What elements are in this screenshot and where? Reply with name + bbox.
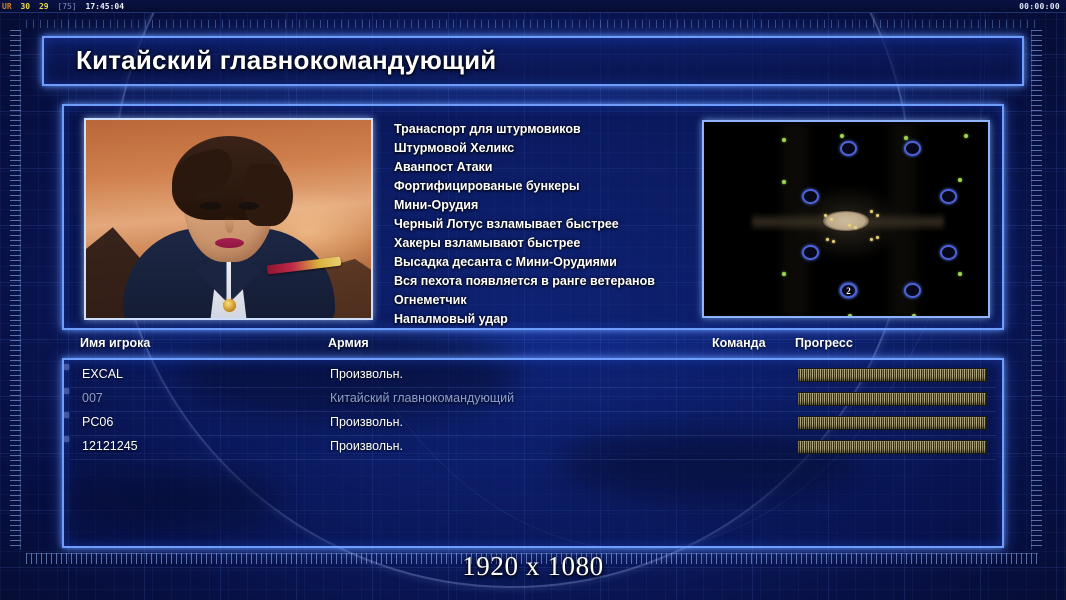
status-right-clock: 00:00:00 xyxy=(1019,0,1060,13)
map-spawn-marker[interactable] xyxy=(904,283,921,298)
ability-item: Штурмовой Хеликс xyxy=(394,139,694,158)
player-row[interactable]: EXCALПроизвольн. xyxy=(64,364,1002,388)
map-resource-dot xyxy=(958,272,962,276)
portrait-eye-right xyxy=(238,202,259,210)
map-resource-dot xyxy=(782,138,786,142)
player-name: 12121245 xyxy=(82,439,138,453)
player-name: EXCAL xyxy=(82,367,123,381)
player-army: Произвольн. xyxy=(330,415,403,429)
player-name: PC06 xyxy=(82,415,113,429)
map-spawn-marker[interactable] xyxy=(904,141,921,156)
ruler-left xyxy=(10,30,21,550)
player-row[interactable]: PC06Произвольн. xyxy=(64,412,1002,436)
map-supply-dot xyxy=(830,218,833,221)
top-status-bar: UR 30 29 [75] 17:45:04 00:00:00 xyxy=(0,0,1066,13)
ability-item: Напалмовый удар xyxy=(394,310,694,329)
map-supply-dot xyxy=(876,214,879,217)
map-resource-dot xyxy=(964,134,968,138)
ability-item: Мини-Орудия xyxy=(394,196,694,215)
resolution-label: 1920 x 1080 xyxy=(0,551,1066,582)
player-army: Китайский главнокомандующий xyxy=(330,391,514,405)
player-team-marker[interactable] xyxy=(64,388,69,394)
portrait-lips xyxy=(215,238,244,248)
map-spawn-marker[interactable] xyxy=(840,141,857,156)
ability-list: Транаспорт для штурмовиковШтурмовой Хели… xyxy=(394,120,694,329)
player-row[interactable]: 12121245Произвольн. xyxy=(64,436,1002,460)
ruler-top xyxy=(26,20,1038,28)
player-army: Произвольн. xyxy=(330,367,403,381)
ruler-right xyxy=(1031,30,1042,550)
map-spawn-marker[interactable] xyxy=(802,245,819,260)
player-rows: EXCALПроизвольн.007Китайский главнокоман… xyxy=(64,364,1002,460)
map-supply-dot xyxy=(876,236,879,239)
map-resource-dot xyxy=(904,136,908,140)
status-bracket: [75] xyxy=(55,2,78,11)
column-header-name: Имя игрока xyxy=(80,336,150,350)
map-resource-dot xyxy=(848,314,852,318)
map-resource-dot xyxy=(782,272,786,276)
map-resource-dot xyxy=(782,180,786,184)
map-spawn-marker[interactable] xyxy=(802,189,819,204)
map-supply-dot xyxy=(870,238,873,241)
column-header-progress: Прогресс xyxy=(795,336,853,350)
player-progress-bar xyxy=(797,416,987,430)
player-name: 007 xyxy=(82,391,103,405)
map-resource-dot xyxy=(958,178,962,182)
player-army: Произвольн. xyxy=(330,439,403,453)
map-supply-dot xyxy=(854,226,857,229)
map-spawn-marker[interactable] xyxy=(940,189,957,204)
player-progress-bar xyxy=(797,440,987,454)
map-spawn-marker-labeled[interactable]: 2 xyxy=(840,283,857,298)
ability-item: Хакеры взламывают быстрее xyxy=(394,234,694,253)
column-header-army: Армия xyxy=(328,336,369,350)
commander-info-panel: Транаспорт для штурмовиковШтурмовой Хели… xyxy=(62,104,1004,330)
map-resource-dot xyxy=(840,134,844,138)
map-supply-dot xyxy=(826,238,829,241)
map-center-island xyxy=(823,211,869,231)
status-value-b: 29 xyxy=(37,2,51,11)
ability-item: Высадка десанта с Мини-Орудиями xyxy=(394,253,694,272)
column-header-team: Команда xyxy=(712,336,766,350)
status-value-a: 30 xyxy=(18,2,32,11)
ability-item: Фортифицированые бункеры xyxy=(394,177,694,196)
status-clock: 17:45:04 xyxy=(84,2,127,11)
commander-portrait xyxy=(84,118,373,320)
player-team-marker[interactable] xyxy=(64,436,69,442)
status-ur-label: UR xyxy=(0,2,14,11)
map-preview: 2 xyxy=(702,120,990,318)
title-panel: Китайский главнокомандующий xyxy=(42,36,1024,86)
row-separator xyxy=(70,459,996,460)
player-row[interactable]: 007Китайский главнокомандующий xyxy=(64,388,1002,412)
ability-item: Вся пехота появляется в ранге ветеранов xyxy=(394,272,694,291)
ability-item: Огнеметчик xyxy=(394,291,694,310)
portrait-eye-left xyxy=(200,202,221,210)
player-list-header: Имя игрока Армия Команда Прогресс xyxy=(62,336,1004,358)
ability-item: Транаспорт для штурмовиков xyxy=(394,120,694,139)
page-title: Китайский главнокомандующий xyxy=(76,45,496,76)
portrait-pin xyxy=(223,299,236,312)
player-progress-bar xyxy=(797,368,987,382)
map-supply-dot xyxy=(848,224,851,227)
player-team-marker[interactable] xyxy=(64,412,69,418)
map-spawn-marker[interactable] xyxy=(940,245,957,260)
player-progress-bar xyxy=(797,392,987,406)
map-resource-dot xyxy=(912,314,916,318)
map-supply-dot xyxy=(824,214,827,217)
map-supply-dot xyxy=(832,240,835,243)
ability-item: Аванпост Атаки xyxy=(394,158,694,177)
player-list-panel: EXCALПроизвольн.007Китайский главнокоман… xyxy=(62,358,1004,548)
portrait-nose xyxy=(225,216,234,233)
game-lobby-screen: UR 30 29 [75] 17:45:04 00:00:00 Китайски… xyxy=(0,0,1066,600)
map-supply-dot xyxy=(870,210,873,213)
player-team-marker[interactable] xyxy=(64,364,69,370)
ability-item: Черный Лотус взламывает быстрее xyxy=(394,215,694,234)
